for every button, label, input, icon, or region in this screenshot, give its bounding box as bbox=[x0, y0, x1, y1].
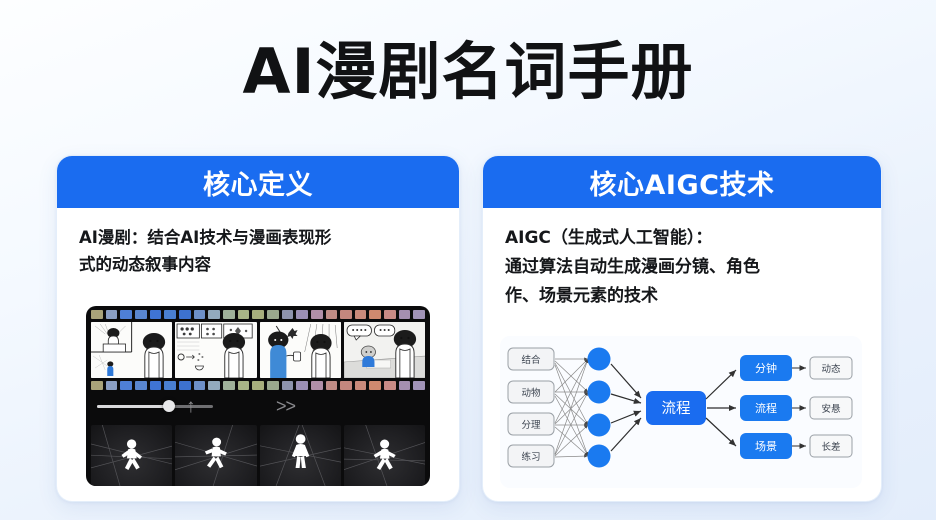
hidden-node-2 bbox=[588, 381, 611, 404]
aigc-pipeline-diagram: 结合 动物 分理 练习 bbox=[500, 336, 862, 488]
diagram-mid-2-label: 场景 bbox=[755, 439, 777, 453]
diagram-input-3-label: 练习 bbox=[521, 451, 540, 463]
walk-cycle-row bbox=[91, 425, 425, 486]
diagram-input-1-label: 动物 bbox=[521, 387, 541, 399]
diagram-final-2: 长差 bbox=[810, 435, 852, 457]
poster-root: AI漫剧名词手册 核心定义 AI漫剧：结合AI技术与漫画表现形 式的动态叙事内容 bbox=[0, 0, 936, 520]
card-body-right: AIGC（生成式人工智能）： 通过算法自动生成漫画分镜、角色 作、场景元素的技术 bbox=[483, 208, 881, 311]
comic-panel-4[interactable] bbox=[344, 322, 425, 378]
diagram-mid-1: 流程 bbox=[740, 395, 792, 421]
diagram-input-0: 结合 bbox=[508, 348, 554, 370]
diagram-mid-outputs: 分钟 流程 场景 bbox=[740, 355, 792, 459]
card-header-left-label: 核心定义 bbox=[203, 163, 313, 202]
walk-frame-2[interactable] bbox=[175, 425, 256, 486]
diagram-mid-0: 分钟 bbox=[740, 355, 792, 381]
filmstrip-sprockets-bottom bbox=[91, 381, 425, 390]
diagram-input-1: 动物 bbox=[508, 381, 554, 403]
diagram-final-2-label: 长差 bbox=[821, 441, 840, 453]
diagram-hub: 流程 bbox=[646, 391, 706, 425]
card-header-left: 核心定义 bbox=[57, 156, 459, 208]
diagram-input-3: 练习 bbox=[508, 445, 554, 467]
page-title: AI漫剧名词手册 bbox=[0, 36, 936, 108]
hidden-node-4 bbox=[588, 445, 611, 468]
diagram-final-0: 动态 bbox=[810, 357, 852, 379]
filmstrip-sprockets-top bbox=[91, 310, 425, 319]
comic-panel-row bbox=[91, 322, 425, 378]
diagram-mid-2: 场景 bbox=[740, 433, 792, 459]
diagram-mid-0-label: 分钟 bbox=[755, 361, 777, 375]
card-body-left: AI漫剧：结合AI技术与漫画表现形 式的动态叙事内容 bbox=[57, 208, 459, 278]
hidden-node-1 bbox=[588, 348, 611, 371]
walk-frame-4[interactable] bbox=[344, 425, 425, 486]
timeline-slider[interactable] bbox=[97, 405, 213, 408]
diagram-hub-label: 流程 bbox=[662, 400, 691, 417]
up-arrow-icon[interactable]: ↑ bbox=[186, 397, 196, 416]
timeline-slider-fill bbox=[97, 405, 169, 408]
fast-forward-icon[interactable]: >> bbox=[276, 397, 295, 416]
diagram-final-0-label: 动态 bbox=[821, 363, 841, 375]
diagram-final-1: 安悬 bbox=[810, 397, 852, 419]
comic-panel-2[interactable] bbox=[175, 322, 256, 378]
filmstrip-media: ↑ >> bbox=[86, 306, 430, 486]
diagram-input-2-label: 分理 bbox=[521, 420, 541, 431]
card-header-right-label: 核心AIGC技术 bbox=[590, 163, 775, 202]
diagram-input-0-label: 结合 bbox=[521, 354, 541, 366]
card-text-right: AIGC（生成式人工智能）： 通过算法自动生成漫画分镜、角色 作、场景元素的技术 bbox=[505, 224, 861, 311]
hidden-node-3 bbox=[588, 414, 611, 437]
walk-frame-3[interactable] bbox=[260, 425, 341, 486]
card-text-left: AI漫剧：结合AI技术与漫画表现形 式的动态叙事内容 bbox=[79, 224, 439, 278]
comic-panel-1[interactable] bbox=[91, 322, 172, 378]
diagram-mid-1-label: 流程 bbox=[755, 401, 777, 415]
walk-frame-1[interactable] bbox=[91, 425, 172, 486]
timeline-slider-knob[interactable] bbox=[163, 400, 175, 412]
comic-panel-3[interactable] bbox=[260, 322, 341, 378]
playback-controls: ↑ >> bbox=[91, 393, 425, 421]
diagram-input-2: 分理 bbox=[508, 413, 554, 435]
card-header-right: 核心AIGC技术 bbox=[483, 156, 881, 208]
diagram-final-outputs: 动态 安悬 长差 bbox=[810, 357, 852, 457]
diagram-final-1-label: 安悬 bbox=[821, 403, 841, 415]
